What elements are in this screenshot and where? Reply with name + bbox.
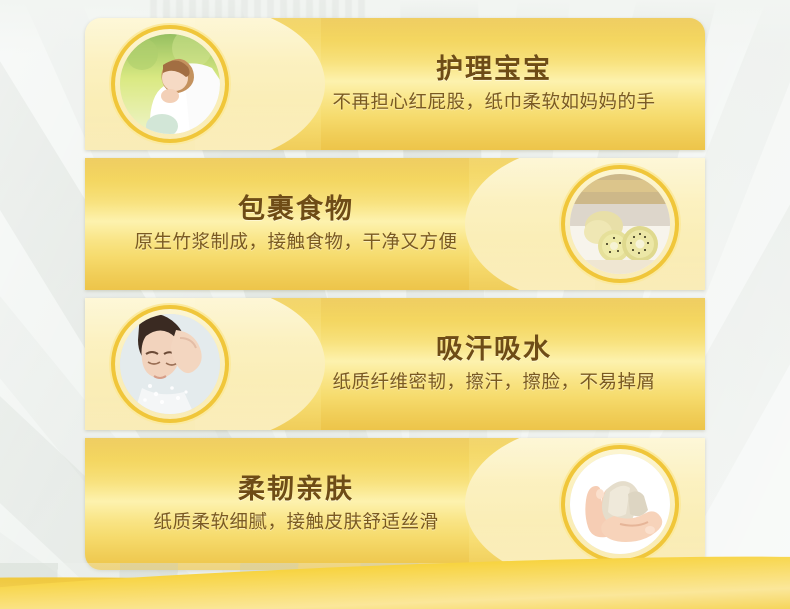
card-text-block: 吸汗吸水纸质纤维密韧，擦汗，擦脸，不易掉屑 [295,298,693,430]
feature-card-list: 护理宝宝不再担心红屁股，纸巾柔软如妈妈的手包裹食物原生竹浆制成，接触食物，干净又… [85,18,705,570]
photo-inner [570,174,670,274]
bottom-ribbon-band-front [0,548,790,609]
photo-inner [120,34,220,134]
card-subtitle: 不再担心红屁股，纸巾柔软如妈妈的手 [332,91,655,113]
cropped-content-top-edge [150,0,365,18]
bottom-ribbon [0,539,790,609]
photo-inner [120,314,220,414]
card-title: 柔韧亲肤 [238,474,354,505]
card-subtitle: 纸质纤维密韧，擦汗，擦脸，不易掉屑 [332,371,655,393]
feature-card[interactable]: 护理宝宝不再担心红屁股，纸巾柔软如妈妈的手 [85,18,705,150]
kiwi-fruit-photo [565,169,675,279]
card-title: 吸汗吸水 [436,334,552,365]
woman-washing-face-photo [115,309,225,419]
feature-card[interactable]: 包裹食物原生竹浆制成，接触食物，干净又方便 [85,158,705,290]
feature-card[interactable]: 吸汗吸水纸质纤维密韧，擦汗，擦脸，不易掉屑 [85,298,705,430]
card-text-block: 包裹食物原生竹浆制成，接触食物，干净又方便 [97,158,495,290]
baby-photo [115,29,225,139]
promo-banner: 护理宝宝不再担心红屁股，纸巾柔软如妈妈的手包裹食物原生竹浆制成，接触食物，干净又… [0,0,790,609]
card-subtitle: 原生竹浆制成，接触食物，干净又方便 [134,231,457,253]
card-title: 护理宝宝 [436,54,552,85]
card-subtitle: 纸质柔软细腻，接触皮肤舒适丝滑 [153,511,438,533]
card-title: 包裹食物 [238,194,354,225]
card-text-block: 护理宝宝不再担心红屁股，纸巾柔软如妈妈的手 [295,18,693,150]
